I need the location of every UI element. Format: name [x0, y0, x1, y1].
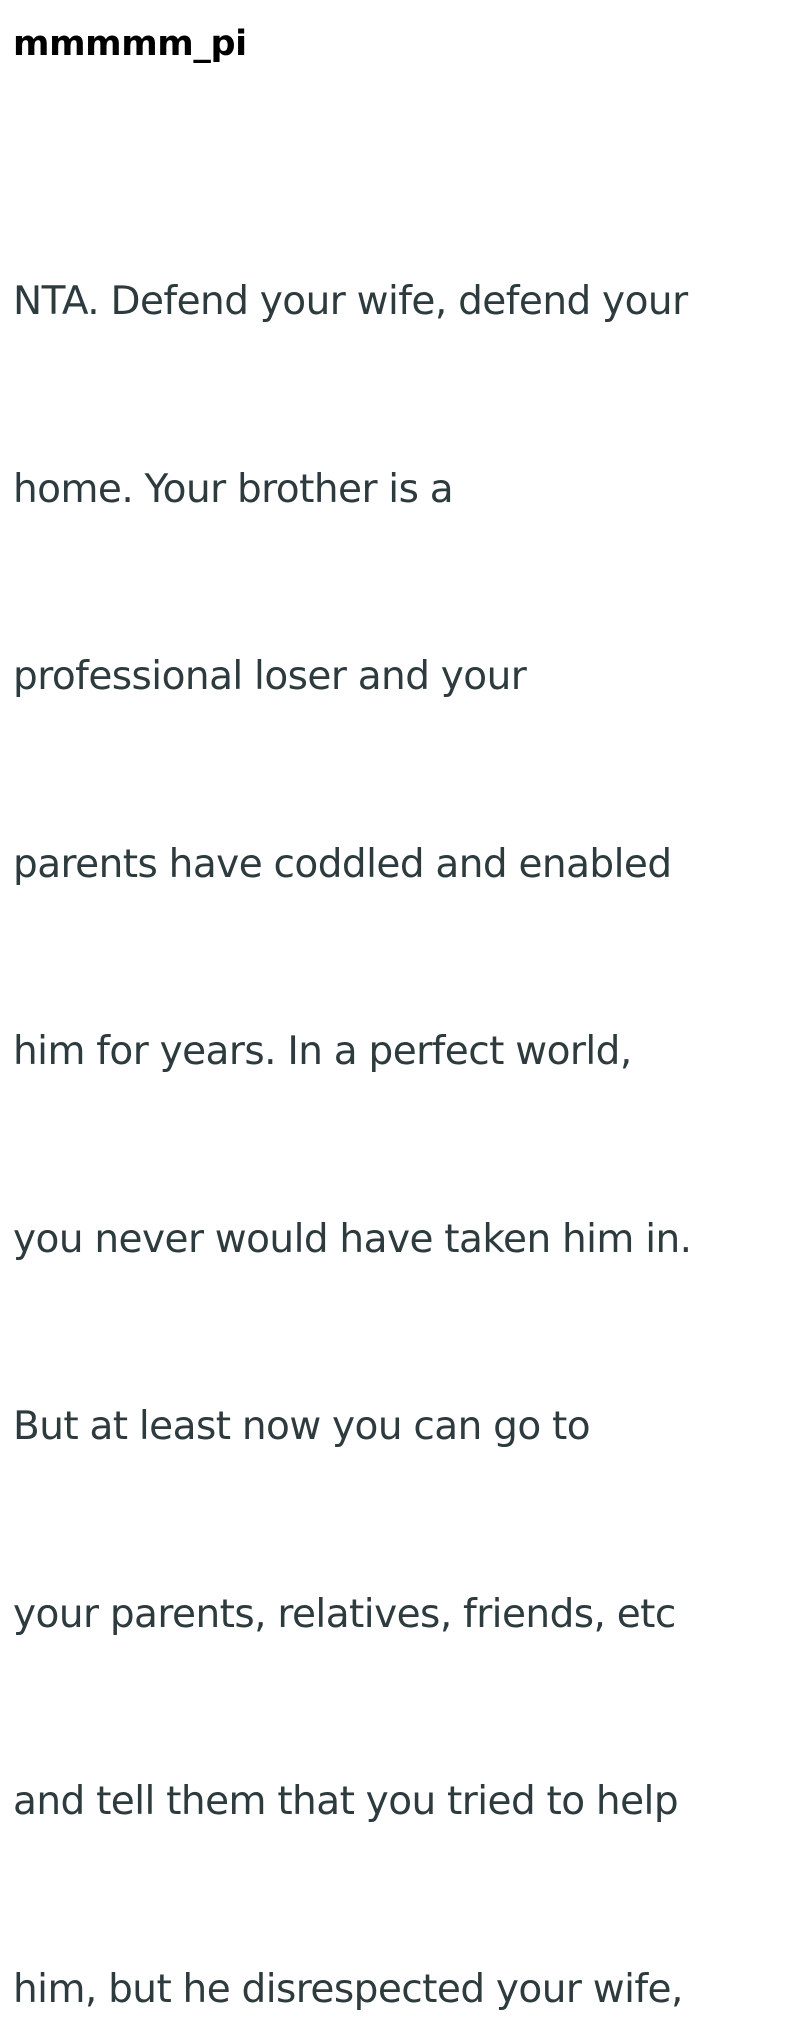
comment-line: NTA. Defend your wife, defend your: [13, 271, 800, 334]
comment-card: mmmmm_pi NTA. Defend your wife, defend y…: [0, 0, 800, 1022]
comment-line: your parents, relatives, friends, etc: [13, 1584, 800, 1647]
comment-line: him for years. In a perfect world,: [13, 1021, 800, 1084]
comment-line: you never would have taken him in.: [13, 1209, 800, 1272]
comment-line: But at least now you can go to: [13, 1396, 800, 1459]
comment-line: professional loser and your: [13, 646, 800, 709]
comment-line: and tell them that you tried to help: [13, 1771, 800, 1834]
comment-line: parents have coddled and enabled: [13, 834, 800, 897]
comment-author-username[interactable]: mmmmm_pi: [13, 23, 247, 65]
comment-body-text: NTA. Defend your wife, defend your home.…: [13, 146, 800, 2044]
comment-line: home. Your brother is a: [13, 459, 800, 522]
comment-line: him, but he disrespected your wife,: [13, 1959, 800, 2022]
